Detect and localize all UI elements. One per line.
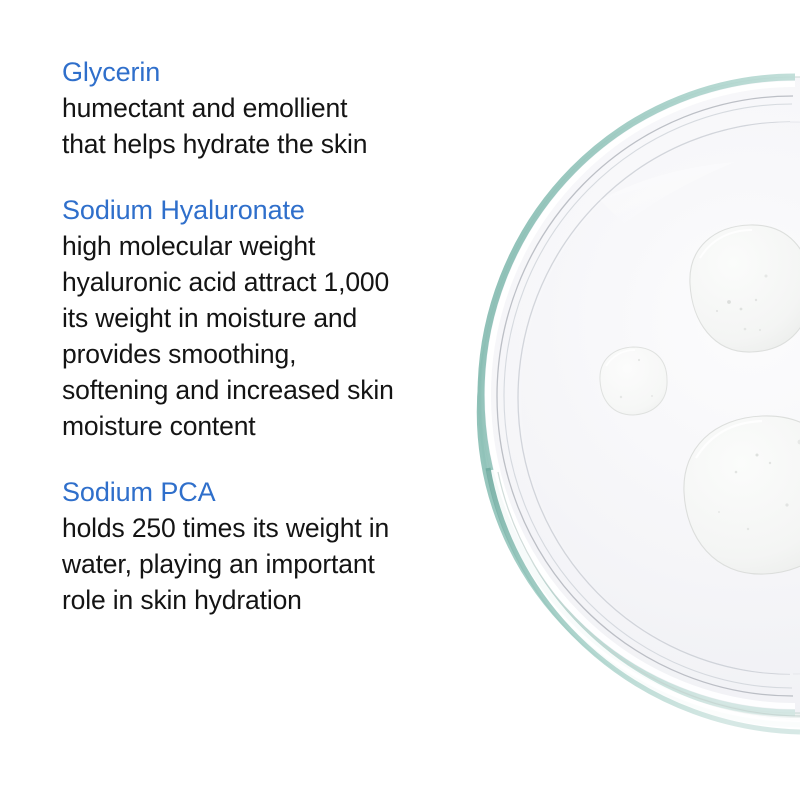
ingredient-name-sodium-hyaluronate: Sodium Hyaluronate	[62, 192, 482, 228]
upper-large-droplet	[690, 225, 800, 352]
desc-line: provides smoothing,	[62, 336, 482, 372]
desc-line: high molecular weight	[62, 228, 482, 264]
small-droplet	[600, 347, 667, 415]
desc-line: water, playing an important	[62, 546, 482, 582]
dish-interior	[521, 122, 800, 674]
gel-droplets	[600, 225, 800, 574]
desc-line: humectant and emollient	[62, 90, 482, 126]
desc-line: hyaluronic acid attract 1,000	[62, 264, 482, 300]
dish-base-rim-bottom	[488, 468, 800, 732]
ingredient-item-glycerin: Glycerin humectant and emollient that he…	[62, 54, 482, 162]
desc-line: role in skin hydration	[62, 582, 482, 618]
ingredient-desc-sodium-hyaluronate: high molecular weight hyaluronic acid at…	[62, 228, 482, 444]
ingredient-infographic: Glycerin humectant and emollient that he…	[0, 0, 800, 800]
lower-large-droplet	[684, 416, 800, 574]
ingredient-item-sodium-pca: Sodium PCA holds 250 times its weight in…	[62, 474, 482, 618]
desc-line: holds 250 times its weight in	[62, 510, 482, 546]
ingredient-desc-glycerin: humectant and emollient that helps hydra…	[62, 90, 482, 162]
desc-line: its weight in moisture and	[62, 300, 482, 336]
ingredient-list: Glycerin humectant and emollient that he…	[62, 54, 482, 618]
ingredient-name-glycerin: Glycerin	[62, 54, 482, 90]
desc-line: moisture content	[62, 408, 482, 444]
dish-base	[480, 100, 800, 724]
ingredient-name-sodium-pca: Sodium PCA	[62, 474, 482, 510]
dish-glare	[600, 162, 735, 224]
dish-lid	[481, 77, 800, 713]
ingredient-item-sodium-hyaluronate: Sodium Hyaluronate high molecular weight…	[62, 192, 482, 444]
desc-line: that helps hydrate the skin	[62, 126, 482, 162]
desc-line: softening and increased skin	[62, 372, 482, 408]
ingredient-desc-sodium-pca: holds 250 times its weight in water, pla…	[62, 510, 482, 618]
